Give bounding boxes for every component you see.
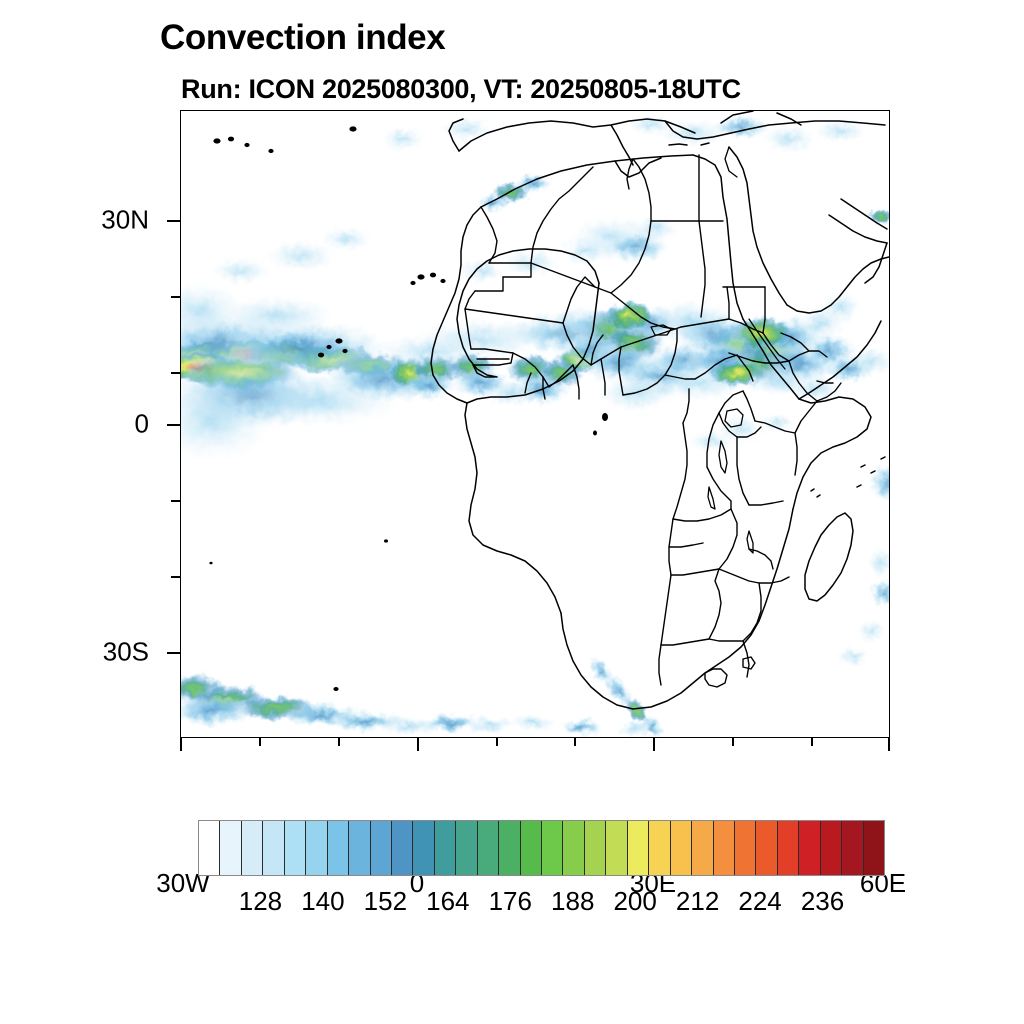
colorbar-cell: [435, 821, 456, 875]
convection-index-field: [181, 115, 890, 738]
x-tick-30w: [180, 738, 182, 751]
colorbar-cell: [714, 821, 735, 875]
x-tick-0: [417, 738, 419, 751]
x-tick-minor-10e: [496, 738, 498, 746]
x-tick-minor-20e: [574, 738, 576, 746]
colorbar-cell: [306, 821, 327, 875]
y-tick-30s: [167, 652, 180, 654]
colorbar-tick-label: 188: [551, 886, 594, 917]
colorbar-cell: [349, 821, 370, 875]
colorbar-tick-label: 140: [301, 886, 344, 917]
colorbar: [198, 820, 885, 876]
colorbar-cell: [199, 821, 220, 875]
colorbar-cell: [821, 821, 842, 875]
x-tick-60e: [888, 738, 890, 751]
colorbar-cell: [563, 821, 584, 875]
colorbar-cell: [606, 821, 627, 875]
colorbar-cell: [285, 821, 306, 875]
colorbar-tick-label: 236: [801, 886, 844, 917]
colorbar-cell: [328, 821, 349, 875]
y-tick-minor-15n: [171, 296, 180, 298]
page-title: Convection index: [160, 18, 445, 58]
figure-root: Convection index Run: ICON 2025080300, V…: [0, 0, 1024, 1024]
colorbar-cell: [371, 821, 392, 875]
colorbar-cell: [585, 821, 606, 875]
colorbar-tick-label: 176: [489, 886, 532, 917]
colorbar-tick-label: 212: [676, 886, 719, 917]
colorbar-cell: [220, 821, 241, 875]
colorbar-cell: [735, 821, 756, 875]
colorbar-cell: [799, 821, 820, 875]
y-axis-label-0: 0: [135, 409, 149, 440]
y-tick-0: [167, 424, 180, 426]
colorbar-tick-label: 200: [613, 886, 656, 917]
y-tick-30n: [167, 220, 180, 222]
colorbar-cell: [542, 821, 563, 875]
colorbar-tick-label: 224: [738, 886, 781, 917]
colorbar-cell: [499, 821, 520, 875]
colorbar-cell: [413, 821, 434, 875]
colorbar-cell: [242, 821, 263, 875]
colorbar-cell: [392, 821, 413, 875]
colorbar-cell: [649, 821, 670, 875]
colorbar-cell: [671, 821, 692, 875]
x-tick-minor-50e: [811, 738, 813, 746]
colorbar-tick-label: 152: [364, 886, 407, 917]
y-tick-minor-25s: [171, 576, 180, 578]
map-plot-area: 30N 0 30S 30W 0 30E 60E: [180, 110, 890, 738]
colorbar-cell: [864, 821, 884, 875]
y-axis-label-30n: 30N: [101, 205, 149, 236]
colorbar-tick-label: 164: [426, 886, 469, 917]
colorbar-cell: [478, 821, 499, 875]
y-tick-minor-15s: [171, 500, 180, 502]
x-tick-30e: [653, 738, 655, 751]
colorbar-cell: [778, 821, 799, 875]
colorbar-cell: [456, 821, 477, 875]
colorbar-cell: [628, 821, 649, 875]
colorbar-cell: [842, 821, 863, 875]
x-tick-minor-40e: [732, 738, 734, 746]
map-canvas: [181, 111, 890, 738]
x-tick-minor-20w: [259, 738, 261, 746]
x-tick-minor-10w: [338, 738, 340, 746]
colorbar-tick-label: 128: [239, 886, 282, 917]
y-axis-label-30s: 30S: [103, 637, 149, 668]
y-tick-minor-5n: [171, 372, 180, 374]
colorbar-cell: [521, 821, 542, 875]
colorbar-cells: [198, 820, 885, 876]
chart-subtitle: Run: ICON 2025080300, VT: 20250805-18UTC: [181, 74, 741, 105]
colorbar-cell: [692, 821, 713, 875]
colorbar-cell: [756, 821, 777, 875]
colorbar-cell: [263, 821, 284, 875]
map-frame: [180, 110, 890, 738]
